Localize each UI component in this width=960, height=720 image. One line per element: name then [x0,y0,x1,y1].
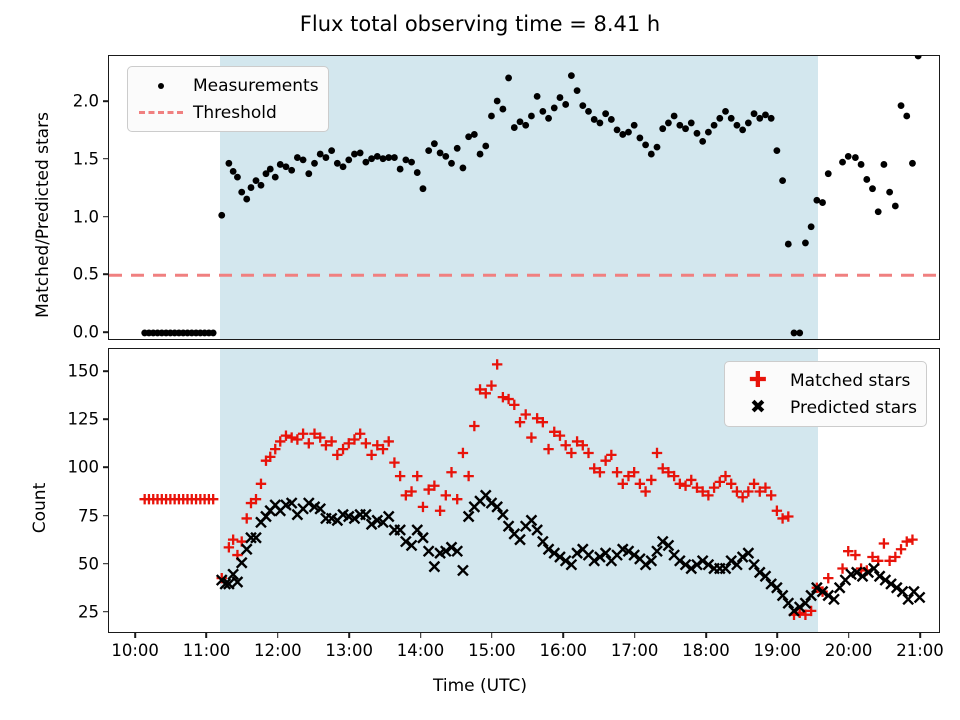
data-point [909,160,916,167]
ratio-y-axis: Matched/Predicted stars 0.00.51.01.52.0 [0,55,108,340]
data-point [636,135,643,142]
y-tick-label: 150 [68,362,109,381]
data-point [903,113,910,120]
data-point [522,122,529,129]
data-point [728,115,735,122]
data-point [441,490,451,500]
data-point [543,444,553,454]
data-point [726,479,736,489]
data-point [886,189,893,196]
data-point [785,241,792,248]
data-point [751,110,758,117]
data-point [340,163,347,170]
data-point [892,203,899,210]
data-point [808,223,815,230]
data-point [879,538,889,548]
data-point [414,169,421,176]
legend-label-predicted-stars: Predicted stars [784,398,917,418]
data-point [230,168,237,175]
x-tick-mark [848,633,850,638]
data-point [597,120,604,127]
data-point [606,450,616,460]
data-point [694,130,701,137]
legend-item-matched-stars[interactable]: ✚ Matched stars [732,367,917,394]
x-tick-label: 12:00 [254,641,302,660]
data-point [511,124,518,131]
x-tick-label: 18:00 [682,641,730,660]
data-point [300,156,307,163]
data-point [357,150,364,157]
data-point [237,558,247,568]
data-point [852,154,859,161]
y-tick-mark [103,370,108,372]
x-tick-label: 14:00 [397,641,445,660]
data-point [442,153,449,160]
data-point [796,330,803,337]
data-point [351,151,358,158]
data-point [823,573,833,583]
data-point [418,502,428,512]
data-point [317,151,324,158]
data-point [762,111,769,118]
data-point [515,535,525,545]
data-point [574,87,581,94]
data-point [768,115,775,122]
data-point [429,562,439,572]
data-point [722,108,729,115]
x-tick-mark [348,633,350,638]
x-axis-label: Time (UTC) [0,676,960,696]
ratio-legend[interactable]: Measurements Threshold [127,66,329,132]
x-tick-mark [134,633,136,638]
x-tick-mark [277,633,279,638]
x-tick-label: 21:00 [896,641,944,660]
y-tick-mark [103,467,108,469]
y-tick-mark [103,515,108,517]
data-point [281,430,291,440]
data-point [863,176,870,183]
dot-marker-icon [135,83,187,89]
x-tick-label: 17:00 [611,641,659,660]
data-point [783,511,793,521]
data-point [234,174,241,181]
data-point [515,417,525,427]
data-point [825,170,832,177]
data-point [915,55,922,59]
data-point [845,153,852,160]
data-point [482,143,489,150]
data-point [503,394,513,404]
data-point [839,159,846,166]
data-point [395,525,405,535]
data-point [665,120,672,127]
legend-item-threshold[interactable]: Threshold [135,99,319,126]
data-point [640,486,650,496]
data-point [869,185,876,192]
ratio-y-axis-label: Matched/Predicted stars [33,55,53,375]
data-point [732,486,742,496]
data-point [494,98,501,105]
y-tick-mark [103,563,108,565]
x-tick-mark [420,633,422,638]
data-point [488,113,495,120]
data-point [915,592,925,602]
data-point [452,494,462,504]
data-point [659,125,666,132]
data-point [243,196,250,203]
x-tick-mark [491,633,493,638]
data-point [608,116,615,123]
data-point [881,161,888,168]
data-point [424,546,434,556]
data-point [875,208,882,215]
data-point [635,479,645,489]
data-point [305,170,312,177]
data-point [345,156,352,163]
y-tick-mark [103,158,108,160]
data-point [720,471,730,481]
data-point [471,131,478,138]
data-point [380,155,387,162]
data-point [560,440,570,450]
data-point [492,359,502,369]
data-point [671,113,678,120]
data-point [652,448,662,458]
y-tick-mark [103,100,108,102]
y-tick-mark [103,611,108,613]
data-point [526,432,536,442]
data-point [477,151,484,158]
data-point [458,565,468,575]
data-point [412,471,422,481]
data-point [469,421,479,431]
data-point [686,475,696,485]
y-tick-mark [103,216,108,218]
data-point [218,212,225,219]
data-point [777,513,787,523]
data-point [389,457,399,467]
data-point [334,160,341,167]
figure-title: Flux total observing time = 8.41 h [0,12,960,36]
x-tick-mark [919,633,921,638]
x-tick-label: 20:00 [825,641,873,660]
data-point [408,159,415,166]
data-point [499,106,506,113]
data-point [772,506,782,516]
data-point [526,515,536,525]
data-point [545,115,552,122]
data-point [583,448,593,458]
data-point [779,177,786,184]
data-point [602,110,609,117]
data-point [745,120,752,127]
data-point [210,330,217,337]
data-point [562,101,569,108]
data-point [361,510,371,520]
data-point [715,477,725,487]
data-point [292,434,302,444]
data-point [625,129,632,136]
data-point [355,429,365,439]
data-point [557,94,564,101]
data-point [618,479,628,489]
data-point [425,147,432,154]
data-point [258,182,265,189]
data-point [328,147,335,154]
x-tick-label: 11:00 [183,641,231,660]
data-point [734,122,741,129]
data-point [332,450,342,460]
data-point [739,126,746,133]
data-point [253,177,260,184]
data-point [675,479,685,489]
data-point [454,145,461,152]
data-point [907,534,917,544]
y-tick-label: 100 [68,458,109,477]
data-point [362,159,369,166]
data-point [270,444,280,454]
data-point [384,512,394,522]
data-point [431,140,438,147]
data-point [566,448,576,458]
data-point [858,161,865,168]
data-point [366,450,376,460]
data-point [532,525,542,535]
data-point [676,122,683,129]
data-point [460,165,467,172]
data-point [288,167,295,174]
data-point [534,93,541,100]
data-point [463,471,473,481]
data-point [338,444,348,454]
data-point [283,163,290,170]
data-point [819,199,826,206]
data-point [654,144,661,151]
data-point [225,160,232,167]
data-point [837,563,847,573]
data-point [420,185,427,192]
data-point [737,492,747,502]
legend-label-measurements: Measurements [187,76,319,96]
data-point [286,432,296,442]
legend-label-matched-stars: Matched stars [784,371,910,391]
data-point [242,544,252,554]
x-tick-mark [705,633,707,638]
data-point [551,105,558,112]
dashed-line-marker-icon [135,111,187,114]
data-point [464,512,474,522]
data-point [486,380,496,390]
data-point [509,400,519,410]
data-point [756,115,763,122]
cross-marker-icon: ✖ [732,398,784,417]
legend-item-predicted-stars[interactable]: ✖ Predicted stars [732,394,917,421]
data-point [614,126,621,133]
data-point [642,141,649,148]
data-point [743,486,753,496]
count-y-axis-label: Count [30,368,50,648]
data-point [585,108,592,115]
data-point [652,546,662,556]
data-point [517,118,524,125]
data-point [391,154,398,161]
x-tick-label: 19:00 [754,641,802,660]
data-point [272,174,279,181]
plus-marker-icon: ✚ [732,370,784,392]
x-tick-label: 10:00 [111,641,159,660]
data-point [591,116,598,123]
x-tick-mark [777,633,779,638]
data-point [446,467,456,477]
data-point [238,189,245,196]
x-tick-mark [634,633,636,638]
count-y-axis: Count 255075100125150 [0,348,108,633]
data-point [498,392,508,402]
data-point [600,455,610,465]
y-tick-mark [103,331,108,333]
data-point [612,467,622,477]
data-point [709,482,719,492]
data-point [705,129,712,136]
data-point [528,113,535,120]
data-point [716,115,723,122]
data-point [505,75,512,82]
data-point [395,471,405,481]
y-tick-label: 125 [68,410,109,429]
data-point [579,102,586,109]
data-point [802,240,809,247]
data-point [256,479,266,489]
legend-item-measurements[interactable]: Measurements [135,72,319,99]
x-tick-label: 13:00 [325,641,373,660]
x-tick-mark [206,633,208,638]
figure-root: Flux total observing time = 8.41 h Measu… [0,0,960,720]
data-point [298,429,308,439]
ratio-panel: Measurements Threshold [108,55,940,340]
data-point [539,108,546,115]
data-point [766,490,776,500]
count-panel: ✚ Matched stars ✖ Predicted stars [108,348,940,633]
data-point [773,147,780,154]
data-point [648,151,655,158]
data-point [361,438,371,448]
data-point [711,122,718,129]
x-tick-mark [562,633,564,638]
data-point [699,138,706,145]
data-point [448,160,455,167]
data-point [397,166,404,173]
count-legend[interactable]: ✚ Matched stars ✖ Predicted stars [724,361,927,427]
x-tick-label: 15:00 [468,641,516,660]
y-tick-mark [103,418,108,420]
data-point [898,102,905,109]
data-point [242,513,252,523]
data-point [323,154,330,161]
data-point [680,481,690,491]
data-point [311,160,318,167]
x-tick-label: 16:00 [539,641,587,660]
data-point [435,506,445,516]
data-point [458,448,468,458]
data-point [568,72,575,79]
y-tick-mark [103,273,108,275]
legend-label-threshold: Threshold [187,103,277,123]
data-point [304,438,314,448]
data-point [749,479,759,489]
data-point [437,150,444,157]
data-point [275,436,285,446]
data-point [521,409,531,419]
data-point [896,544,906,554]
data-point [631,122,638,129]
data-point [267,166,274,173]
data-point [682,125,689,132]
data-point [902,536,912,546]
data-point [384,436,394,446]
data-point [688,120,695,127]
data-point [248,184,255,191]
data-point [646,475,656,485]
